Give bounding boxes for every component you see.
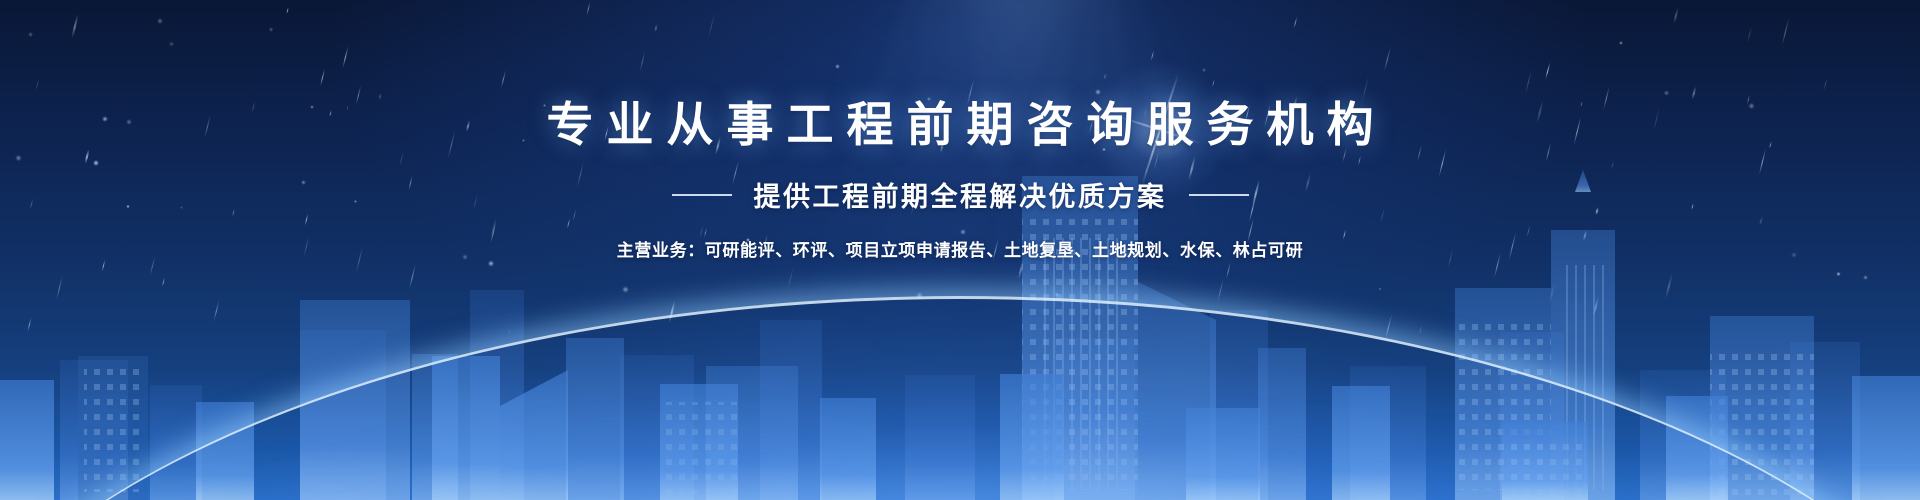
star-particle — [1212, 79, 1215, 87]
star-particle — [708, 12, 716, 41]
sparkle-particle — [1863, 275, 1868, 280]
star-particle — [1385, 313, 1393, 343]
star-particle — [1524, 69, 1531, 94]
subtitle: 提供工程前期全程解决优质方案 — [754, 175, 1167, 214]
sparkle-particle — [622, 286, 629, 293]
star-particle — [508, 327, 511, 337]
star-particle — [1665, 272, 1674, 299]
sparkle-particle — [269, 27, 274, 32]
sparkle-particle — [488, 260, 494, 266]
horizon-arc-line — [0, 296, 1920, 500]
star-particle — [409, 263, 417, 289]
banner-text-block: 专业从事工程前期咨询服务机构 提供工程前期全程解决优质方案 主营业务：可研能评、… — [0, 96, 1920, 261]
star-particle — [342, 45, 349, 68]
star-particle — [213, 299, 220, 322]
star-particle — [1548, 281, 1556, 305]
star-particle — [56, 276, 63, 301]
sparkle-particle — [1202, 68, 1206, 72]
sparkle-particle — [1095, 89, 1101, 95]
sparkle-particle — [28, 32, 32, 36]
sparkle-particle — [916, 292, 923, 299]
star-particle — [787, 267, 794, 291]
sparkle-particle — [169, 41, 175, 47]
sparkle-particle — [1379, 288, 1381, 290]
star-particle — [1747, 25, 1753, 44]
star-particle — [1546, 61, 1551, 78]
star-particle — [586, 1, 591, 16]
star-particle — [654, 24, 658, 32]
star-particle — [1418, 325, 1421, 335]
star-particle — [1383, 46, 1391, 73]
sparkle-particle — [1055, 292, 1060, 297]
sparkle-particle — [835, 64, 840, 69]
star-particle — [639, 49, 646, 73]
star-particle — [1151, 50, 1155, 61]
star-particle — [1103, 73, 1107, 81]
subheadline-row: 提供工程前期全程解决优质方案 — [0, 175, 1920, 214]
star-particle — [668, 300, 676, 323]
star-particle — [1545, 63, 1550, 80]
star-particle — [1018, 259, 1025, 279]
rule-right-decoration — [1189, 194, 1249, 196]
sparkle-particle — [1619, 41, 1623, 45]
hero-banner: 专业从事工程前期咨询服务机构 提供工程前期全程解决优质方案 主营业务：可研能评、… — [0, 0, 1920, 500]
sparkle-particle — [157, 18, 163, 24]
star-particle — [162, 277, 165, 287]
rule-left-decoration — [672, 194, 732, 196]
page-title: 专业从事工程前期咨询服务机构 — [0, 96, 1920, 153]
sparkle-particle — [1836, 272, 1840, 276]
star-particle — [500, 69, 506, 88]
horizon-glow — [0, 240, 1920, 500]
star-particle — [1592, 296, 1599, 316]
star-particle — [1823, 77, 1827, 91]
star-particle — [320, 68, 326, 87]
star-particle — [286, 7, 289, 14]
star-particle — [71, 13, 79, 39]
star-particle — [27, 317, 32, 331]
star-particle — [1673, 7, 1679, 24]
star-particle — [1294, 16, 1298, 29]
services-tagline: 主营业务：可研能评、环评、项目立项申请报告、土地复垦、土地规划、水保、林占可研 — [0, 236, 1920, 261]
star-particle — [1217, 278, 1225, 305]
star-particle — [1226, 261, 1231, 279]
star-particle — [35, 78, 39, 91]
star-particle — [1782, 16, 1791, 47]
